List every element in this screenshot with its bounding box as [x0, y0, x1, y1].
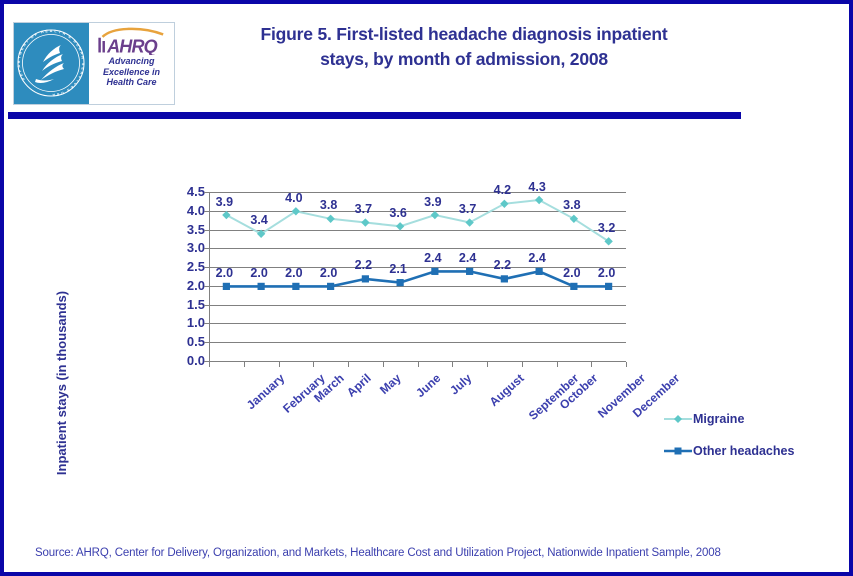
data-point-marker [397, 279, 404, 286]
data-label: 3.7 [348, 203, 378, 215]
y-axis-tick-label: 0.5 [175, 337, 205, 347]
data-label: 4.3 [522, 181, 552, 193]
legend-label: Migraine [693, 412, 744, 426]
x-axis-tick-mark [522, 362, 523, 367]
data-label: 3.8 [314, 199, 344, 211]
ahrq-logo: D E P A R T M E N T O F H E A L T [13, 22, 175, 105]
y-axis-tick-mark [204, 342, 209, 343]
y-axis-tick-mark [204, 323, 209, 324]
data-point-marker [501, 275, 508, 282]
data-point-marker [258, 283, 265, 290]
data-point-marker [536, 268, 543, 275]
legend-label: Other headaches [693, 444, 794, 458]
data-point-marker [605, 283, 612, 290]
data-point-marker [466, 268, 473, 275]
y-axis-tick-label: 1.0 [175, 318, 205, 328]
y-axis-tick-mark [204, 211, 209, 212]
data-label: 2.0 [244, 267, 274, 279]
y-axis-tick-mark [204, 267, 209, 268]
y-axis-tick-mark [204, 286, 209, 287]
x-axis-tick-mark [626, 362, 627, 367]
y-axis-tick-label: 2.0 [175, 281, 205, 291]
y-axis-tick-label: 4.0 [175, 206, 205, 216]
data-label: 2.0 [209, 267, 239, 279]
y-axis-tick-label: 0.0 [175, 356, 205, 366]
x-axis-tick-mark [591, 362, 592, 367]
y-axis-tick-label: 1.5 [175, 300, 205, 310]
figure-page: D E P A R T M E N T O F H E A L T [0, 0, 853, 576]
svg-text:M: M [18, 51, 23, 55]
ahrq-wordmark-block: AHRQ Advancing Excellence in Health Care [89, 23, 174, 104]
tagline-line-2: Excellence in [103, 67, 160, 78]
data-label: 2.0 [314, 267, 344, 279]
x-axis-tick-label: May [377, 371, 404, 397]
legend-item-migraine[interactable]: Migraine [664, 412, 744, 426]
data-point-marker [362, 275, 369, 282]
data-label: 3.4 [244, 214, 274, 226]
figure-title: Figure 5. First-listed headache diagnosi… [184, 22, 744, 72]
x-axis-tick-label: April [344, 371, 374, 400]
y-axis-title: Inpatient stays (in thousands) [54, 273, 72, 493]
tagline-line-1: Advancing [103, 56, 160, 67]
data-label: 3.2 [592, 222, 622, 234]
data-label: 2.4 [453, 252, 483, 264]
y-axis-tick-labels: 0.00.51.01.52.02.53.03.54.04.5 [169, 192, 205, 362]
hhs-seal-icon: D E P A R T M E N T O F H E A L T [14, 23, 89, 104]
data-label: 3.9 [418, 196, 448, 208]
data-point-marker [327, 283, 334, 290]
data-label: 3.9 [209, 196, 239, 208]
svg-text:AHRQ: AHRQ [106, 36, 158, 55]
data-point-marker [222, 211, 230, 219]
y-axis-tick-label: 3.5 [175, 225, 205, 235]
data-label: 2.1 [383, 263, 413, 275]
data-point-marker [361, 218, 369, 226]
data-point-marker [431, 211, 439, 219]
x-axis-tick-mark [557, 362, 558, 367]
source-note: Source: AHRQ, Center for Delivery, Organ… [35, 547, 721, 559]
data-label: 2.2 [348, 259, 378, 271]
header-divider [8, 112, 741, 119]
data-point-marker [396, 222, 404, 230]
y-axis-tick-mark [204, 248, 209, 249]
x-axis-tick-mark [209, 362, 210, 367]
svg-text:E: E [80, 67, 84, 71]
x-axis-tick-mark [244, 362, 245, 367]
x-axis-tick-mark [313, 362, 314, 367]
figure-title-line-1: Figure 5. First-listed headache diagnosi… [184, 22, 744, 47]
data-point-marker [465, 218, 473, 226]
data-label: 2.0 [557, 267, 587, 279]
data-point-marker [326, 215, 334, 223]
y-axis-tick-mark [204, 230, 209, 231]
x-axis-tick-label: June [413, 371, 443, 400]
figure-title-line-2: stays, by month of admission, 2008 [184, 47, 744, 72]
svg-text:R: R [17, 60, 21, 63]
svg-text:S: S [81, 63, 85, 66]
data-label: 2.4 [418, 252, 448, 264]
x-axis-tick-mark [418, 362, 419, 367]
data-label: 2.0 [592, 267, 622, 279]
data-label: 4.2 [487, 184, 517, 196]
y-axis-tick-mark [204, 192, 209, 193]
data-point-marker [570, 283, 577, 290]
y-axis-tick-mark [204, 305, 209, 306]
data-label: 2.4 [522, 252, 552, 264]
data-label: 3.8 [557, 199, 587, 211]
svg-text:R: R [79, 71, 84, 75]
x-axis-tick-label: July [447, 371, 474, 397]
ahrq-tagline: Advancing Excellence in Health Care [103, 56, 160, 88]
svg-text:L: L [54, 29, 58, 33]
legend-square-icon [664, 444, 692, 458]
data-point-marker [535, 196, 543, 204]
x-axis-tick-mark [383, 362, 384, 367]
data-label: 2.2 [487, 259, 517, 271]
tagline-line-3: Health Care [103, 77, 160, 88]
data-point-marker [431, 268, 438, 275]
y-axis-tick-label: 2.5 [175, 262, 205, 272]
y-axis-tick-label: 4.5 [175, 187, 205, 197]
ahrq-wordmark-icon: AHRQ [91, 27, 173, 55]
x-axis-tick-mark [348, 362, 349, 367]
data-point-marker [292, 283, 299, 290]
chart-area: Inpatient stays (in thousands) 0.00.51.0… [4, 144, 853, 484]
x-axis-tick-label: August [486, 371, 526, 409]
data-label: 4.0 [279, 192, 309, 204]
legend-item-other-headaches[interactable]: Other headaches [664, 444, 794, 458]
x-axis-tick-mark [452, 362, 453, 367]
data-point-marker [223, 283, 230, 290]
y-axis-tick-label: 3.0 [175, 243, 205, 253]
legend-diamond-icon [664, 412, 692, 426]
data-label: 2.0 [279, 267, 309, 279]
data-label: 3.7 [453, 203, 483, 215]
data-point-marker [500, 200, 508, 208]
data-label: 3.6 [383, 207, 413, 219]
chart-legend: MigraineOther headaches [664, 412, 844, 472]
svg-text:A: A [50, 29, 53, 33]
x-axis-tick-mark [487, 362, 488, 367]
x-axis-tick-mark [279, 362, 280, 367]
